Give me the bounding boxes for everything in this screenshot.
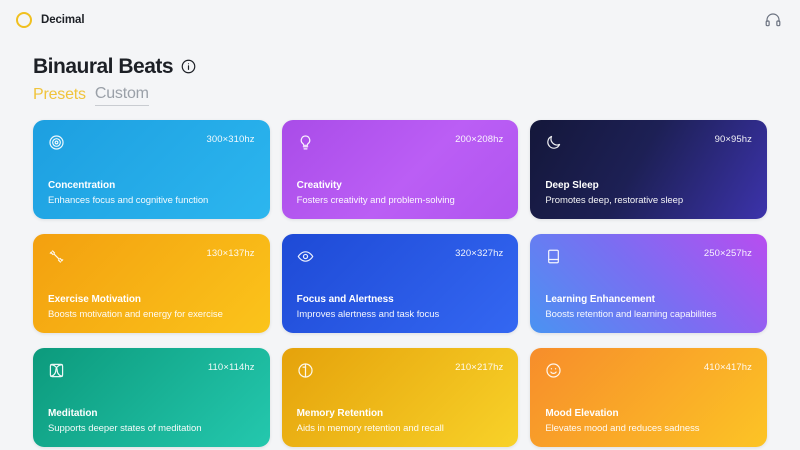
card-top: 130×137hz bbox=[48, 248, 255, 265]
tab-presets[interactable]: Presets bbox=[33, 86, 86, 106]
card-bottom: Creativity Fosters creativity and proble… bbox=[297, 180, 504, 206]
card-frequency: 130×137hz bbox=[206, 248, 254, 259]
tab-list: Presets Custom bbox=[33, 85, 800, 106]
card-description: Fosters creativity and problem-solving bbox=[297, 195, 504, 206]
preset-card-creativity[interactable]: 200×208hz Creativity Fosters creativity … bbox=[282, 120, 519, 219]
preset-card-memory-retention[interactable]: 210×217hz Memory Retention Aids in memor… bbox=[282, 348, 519, 447]
card-description: Aids in memory retention and recall bbox=[297, 423, 504, 434]
card-top: 300×310hz bbox=[48, 134, 255, 151]
preset-card-concentration[interactable]: 300×310hz Concentration Enhances focus a… bbox=[33, 120, 270, 219]
card-frequency: 320×327hz bbox=[455, 248, 503, 259]
card-description: Boosts motivation and energy for exercis… bbox=[48, 309, 255, 320]
card-bottom: Focus and Alertness Improves alertness a… bbox=[297, 294, 504, 320]
card-title: Mood Elevation bbox=[545, 408, 752, 420]
eye-icon bbox=[297, 248, 314, 265]
card-title: Learning Enhancement bbox=[545, 294, 752, 306]
card-frequency: 200×208hz bbox=[455, 134, 503, 145]
brand[interactable]: Decimal bbox=[16, 12, 84, 28]
card-top: 90×95hz bbox=[545, 134, 752, 151]
card-top: 320×327hz bbox=[297, 248, 504, 265]
tab-custom[interactable]: Custom bbox=[95, 85, 149, 106]
card-top: 250×257hz bbox=[545, 248, 752, 265]
book-icon bbox=[545, 248, 562, 265]
info-circle-icon[interactable] bbox=[181, 59, 196, 74]
card-bottom: Meditation Supports deeper states of med… bbox=[48, 408, 255, 434]
title-row: Binaural Beats bbox=[33, 56, 800, 77]
card-title: Concentration bbox=[48, 180, 255, 192]
card-bottom: Mood Elevation Elevates mood and reduces… bbox=[545, 408, 752, 434]
moon-icon bbox=[545, 134, 562, 151]
card-bottom: Memory Retention Aids in memory retentio… bbox=[297, 408, 504, 434]
card-top: 210×217hz bbox=[297, 362, 504, 379]
page-title: Binaural Beats bbox=[33, 56, 173, 77]
lightbulb-icon bbox=[297, 134, 314, 151]
card-title: Meditation bbox=[48, 408, 255, 420]
card-description: Boosts retention and learning capabiliti… bbox=[545, 309, 752, 320]
atom-icon bbox=[48, 362, 65, 379]
dumbbell-icon bbox=[48, 248, 65, 265]
card-top: 410×417hz bbox=[545, 362, 752, 379]
card-bottom: Deep Sleep Promotes deep, restorative sl… bbox=[545, 180, 752, 206]
preset-card-learning-enhancement[interactable]: 250×257hz Learning Enhancement Boosts re… bbox=[530, 234, 767, 333]
card-frequency: 110×114hz bbox=[208, 362, 255, 373]
card-frequency: 210×217hz bbox=[455, 362, 503, 373]
page-heading: Binaural Beats Presets Custom bbox=[0, 39, 800, 106]
smiley-icon bbox=[545, 362, 562, 379]
preset-card-mood-elevation[interactable]: 410×417hz Mood Elevation Elevates mood a… bbox=[530, 348, 767, 447]
preset-card-focus-and-alertness[interactable]: 320×327hz Focus and Alertness Improves a… bbox=[282, 234, 519, 333]
brand-name: Decimal bbox=[41, 14, 84, 26]
preset-card-exercise-motivation[interactable]: 130×137hz Exercise Motivation Boosts mot… bbox=[33, 234, 270, 333]
card-title: Exercise Motivation bbox=[48, 294, 255, 306]
card-description: Elevates mood and reduces sadness bbox=[545, 423, 752, 434]
card-description: Improves alertness and task focus bbox=[297, 309, 504, 320]
card-frequency: 250×257hz bbox=[704, 248, 752, 259]
card-title: Memory Retention bbox=[297, 408, 504, 420]
card-top: 110×114hz bbox=[48, 362, 255, 379]
card-title: Deep Sleep bbox=[545, 180, 752, 192]
card-description: Supports deeper states of meditation bbox=[48, 423, 255, 434]
preset-grid: 300×310hz Concentration Enhances focus a… bbox=[0, 106, 800, 447]
circle-outline-icon bbox=[16, 12, 32, 28]
card-description: Enhances focus and cognitive function bbox=[48, 195, 255, 206]
card-title: Focus and Alertness bbox=[297, 294, 504, 306]
top-bar: Decimal bbox=[0, 0, 800, 39]
headphones-icon[interactable] bbox=[762, 9, 784, 31]
card-frequency: 300×310hz bbox=[206, 134, 254, 145]
target-icon bbox=[48, 134, 65, 151]
brain-split-icon bbox=[297, 362, 314, 379]
preset-card-meditation[interactable]: 110×114hz Meditation Supports deeper sta… bbox=[33, 348, 270, 447]
card-top: 200×208hz bbox=[297, 134, 504, 151]
card-frequency: 90×95hz bbox=[715, 134, 752, 145]
card-bottom: Concentration Enhances focus and cogniti… bbox=[48, 180, 255, 206]
card-frequency: 410×417hz bbox=[704, 362, 752, 373]
card-title: Creativity bbox=[297, 180, 504, 192]
card-description: Promotes deep, restorative sleep bbox=[545, 195, 752, 206]
card-bottom: Exercise Motivation Boosts motivation an… bbox=[48, 294, 255, 320]
preset-card-deep-sleep[interactable]: 90×95hz Deep Sleep Promotes deep, restor… bbox=[530, 120, 767, 219]
card-bottom: Learning Enhancement Boosts retention an… bbox=[545, 294, 752, 320]
